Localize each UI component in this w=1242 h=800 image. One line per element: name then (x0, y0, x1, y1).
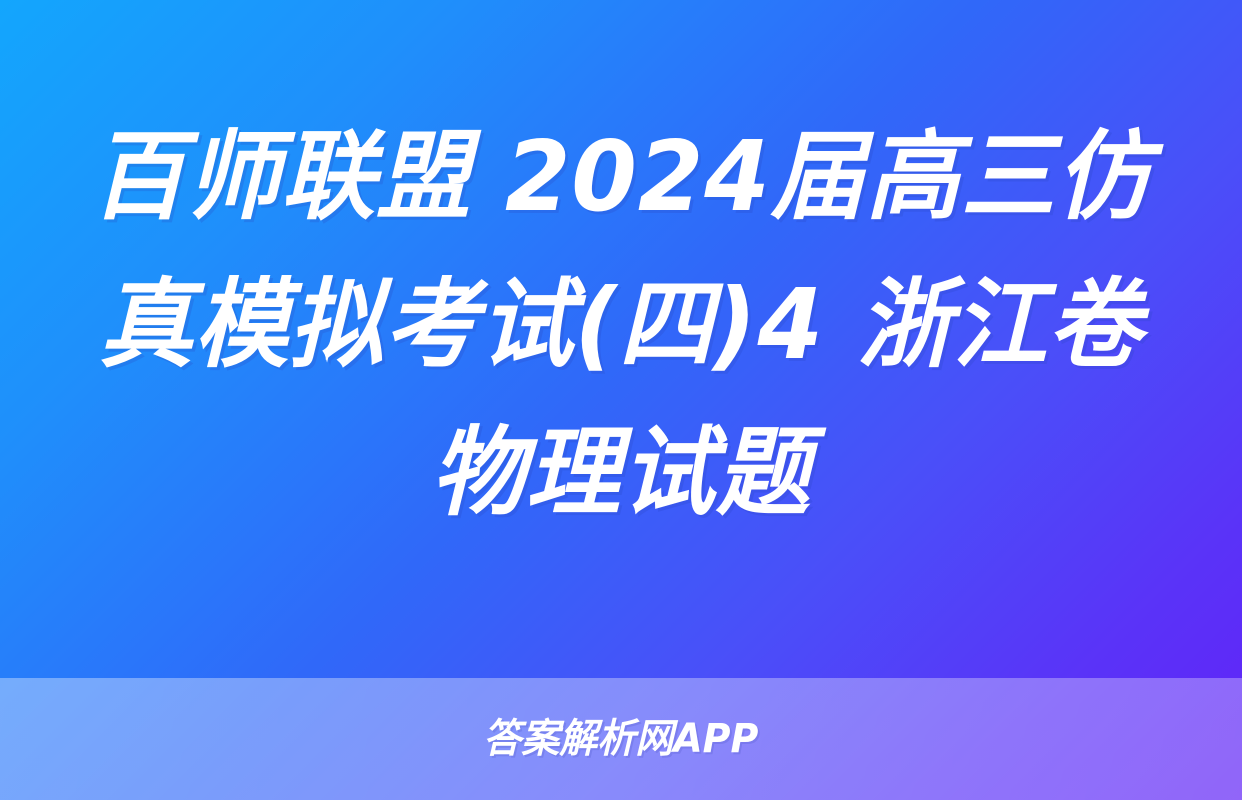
app-watermark-label: 答案解析网APP (483, 717, 758, 761)
page-title: 百师联盟 2024届高三仿 真模拟考试(四)4 浙江卷 物理试题 (40, 103, 1202, 547)
exam-cover-card: 百师联盟 2024届高三仿 真模拟考试(四)4 浙江卷 物理试题 答案解析网AP… (0, 0, 1242, 800)
title-line-1: 百师联盟 2024届高三仿 (57, 103, 1184, 251)
hero-section: 百师联盟 2024届高三仿 真模拟考试(四)4 浙江卷 物理试题 (0, 0, 1242, 678)
title-line-2: 真模拟考试(四)4 浙江卷 (57, 251, 1184, 399)
footer-watermark-band: 答案解析网APP (0, 678, 1242, 800)
title-line-3: 物理试题 (57, 399, 1184, 547)
